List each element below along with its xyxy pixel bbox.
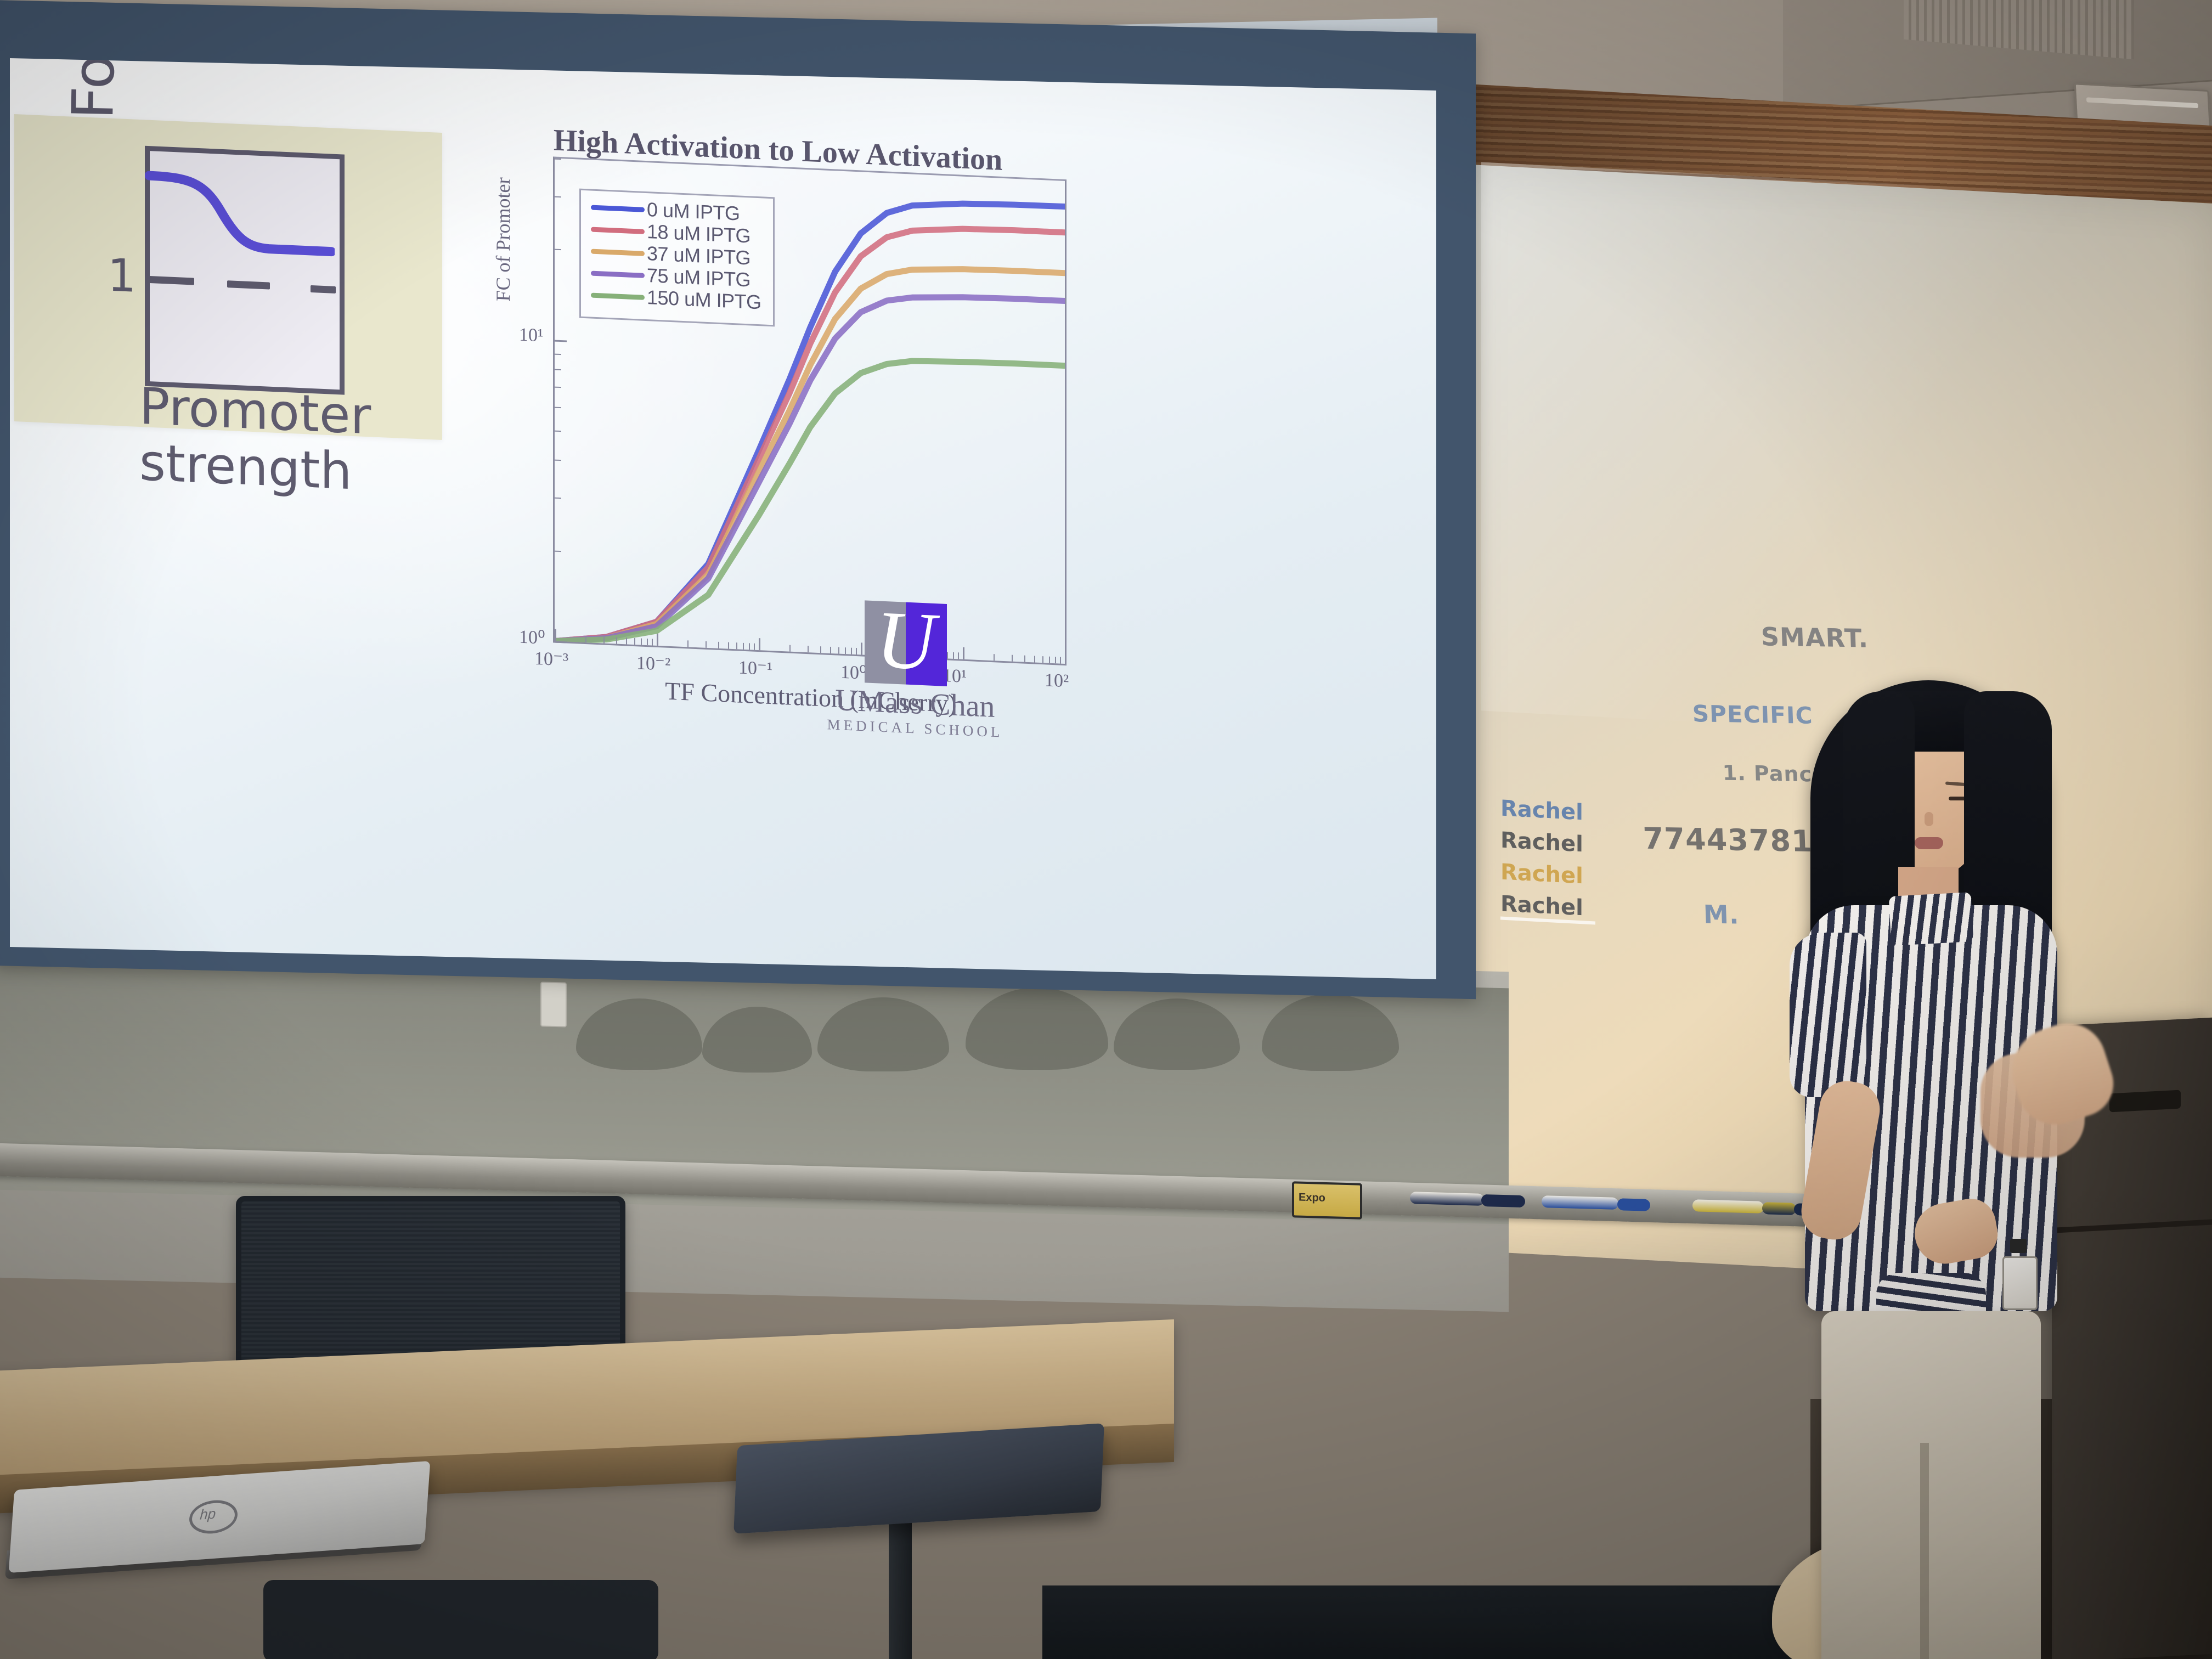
x-minor-tick	[789, 645, 791, 652]
x-minor-tick	[641, 639, 642, 645]
x-minor-tick	[749, 643, 750, 650]
presenter-nose	[1925, 812, 1933, 826]
fold-change-baseline-dash	[311, 285, 336, 294]
x-minor-tick	[1012, 655, 1013, 662]
projection-screen: Fold-change 1 Promoter strength High Act…	[10, 58, 1436, 979]
x-major-tick	[555, 629, 556, 641]
x-minor-tick	[647, 639, 648, 645]
x-major-tick	[759, 638, 760, 650]
podium-handle[interactable]	[2109, 1090, 2181, 1113]
x-minor-tick	[1024, 656, 1025, 662]
whiteboard-marker[interactable]	[1542, 1195, 1618, 1210]
logo-u-glyph: U	[865, 606, 947, 684]
presentation-slide: Fold-change 1 Promoter strength High Act…	[10, 58, 1436, 979]
x-minor-tick	[1034, 656, 1035, 662]
whiteboard-name-2: Rachel	[1500, 859, 1595, 889]
eraser-label: Expo	[1299, 1192, 1325, 1205]
whiteboard-eraser[interactable]: Expo	[1292, 1181, 1362, 1220]
legend-swatch-0	[591, 205, 645, 212]
x-minor-tick	[736, 642, 737, 649]
badge-clip	[2010, 1239, 2027, 1253]
chair-seat[interactable]	[263, 1580, 658, 1659]
power-outlet[interactable]	[540, 981, 567, 1027]
whiteboard-note: SMART.	[1760, 622, 1869, 653]
chart-y-axis-label: FC of Promoter	[492, 177, 515, 302]
x-minor-tick	[820, 646, 821, 653]
presenter-leg-gap	[1920, 1443, 1929, 1659]
y-tick-label: 10¹	[519, 324, 543, 346]
fold-change-x-axis-label-line2: strength	[139, 437, 352, 497]
legend-swatch-4	[591, 292, 645, 300]
x-minor-tick	[1055, 657, 1056, 663]
x-minor-tick	[706, 641, 707, 648]
whiteboard-names-group: RachelRachelRachelRachel	[1500, 795, 1595, 931]
presenter-pants	[1821, 1311, 2041, 1659]
x-minor-tick	[626, 637, 627, 644]
whiteboard-name-1: Rachel	[1500, 827, 1595, 857]
whiteboard-marker[interactable]	[1481, 1194, 1525, 1207]
y-major-tick	[555, 641, 567, 644]
x-major-tick	[657, 634, 658, 646]
activation-chart: High Activation to Low Activation FC of …	[476, 119, 1135, 730]
legend-label-4: 150 uM IPTG	[647, 286, 761, 314]
table-leg	[889, 1506, 912, 1659]
whiteboard-name-0: Rachel	[1500, 795, 1595, 826]
presenter	[1750, 675, 2101, 1659]
fold-change-plot-box	[145, 146, 345, 395]
umass-chan-logo: U UMass Chan MEDICAL SCHOOL	[822, 599, 1008, 755]
x-minor-tick	[1042, 656, 1043, 663]
x-minor-tick	[585, 636, 586, 642]
chart-legend: 0 uM IPTG18 uM IPTG37 uM IPTG75 uM IPTG1…	[579, 189, 775, 327]
x-minor-tick	[634, 638, 635, 645]
x-minor-tick	[743, 643, 744, 650]
fold-change-curve	[145, 146, 335, 385]
x-minor-tick	[616, 637, 617, 644]
presenter-mouth	[1915, 837, 1943, 849]
floor-shadow	[1042, 1585, 1865, 1659]
x-minor-tick	[808, 646, 809, 652]
presenter-collar	[1889, 892, 1974, 946]
fold-change-y-tick-label: 1	[108, 249, 136, 302]
x-minor-tick	[754, 644, 755, 650]
legend-swatch-1	[591, 227, 645, 234]
fold-change-x-axis-label-line1: Promoter	[139, 381, 371, 442]
x-minor-tick	[652, 639, 653, 645]
legend-swatch-2	[591, 249, 645, 256]
x-minor-tick	[603, 637, 605, 644]
x-tick-label: 10⁻¹	[738, 656, 772, 680]
id-badge	[2002, 1256, 2038, 1310]
x-minor-tick	[687, 640, 689, 647]
x-minor-tick	[728, 642, 729, 649]
whiteboard-name-3: Rachel	[1500, 891, 1595, 924]
fold-change-y-axis-label: Fold-change	[59, 58, 133, 120]
presenter-sleeve	[1790, 933, 1866, 1097]
whiteboard-marker[interactable]	[1410, 1192, 1484, 1206]
whiteboard-note: M.	[1703, 899, 1740, 929]
x-minor-tick	[1049, 657, 1050, 663]
legend-swatch-3	[591, 270, 645, 278]
screenshot-root: SMART.SPECIFIC1. Panc neoplasmBTK7744378…	[0, 0, 2212, 1659]
x-tick-label: 10²	[1045, 670, 1069, 692]
x-tick-label: 10⁻³	[534, 647, 568, 671]
y-tick-label: 10⁰	[519, 626, 545, 649]
x-minor-tick	[718, 642, 719, 648]
x-major-tick	[1065, 652, 1066, 664]
x-minor-tick	[1060, 657, 1061, 664]
umass-logo-mark: U	[865, 600, 947, 686]
x-tick-label: 10⁻²	[636, 652, 670, 675]
whiteboard-marker[interactable]	[1617, 1198, 1650, 1211]
